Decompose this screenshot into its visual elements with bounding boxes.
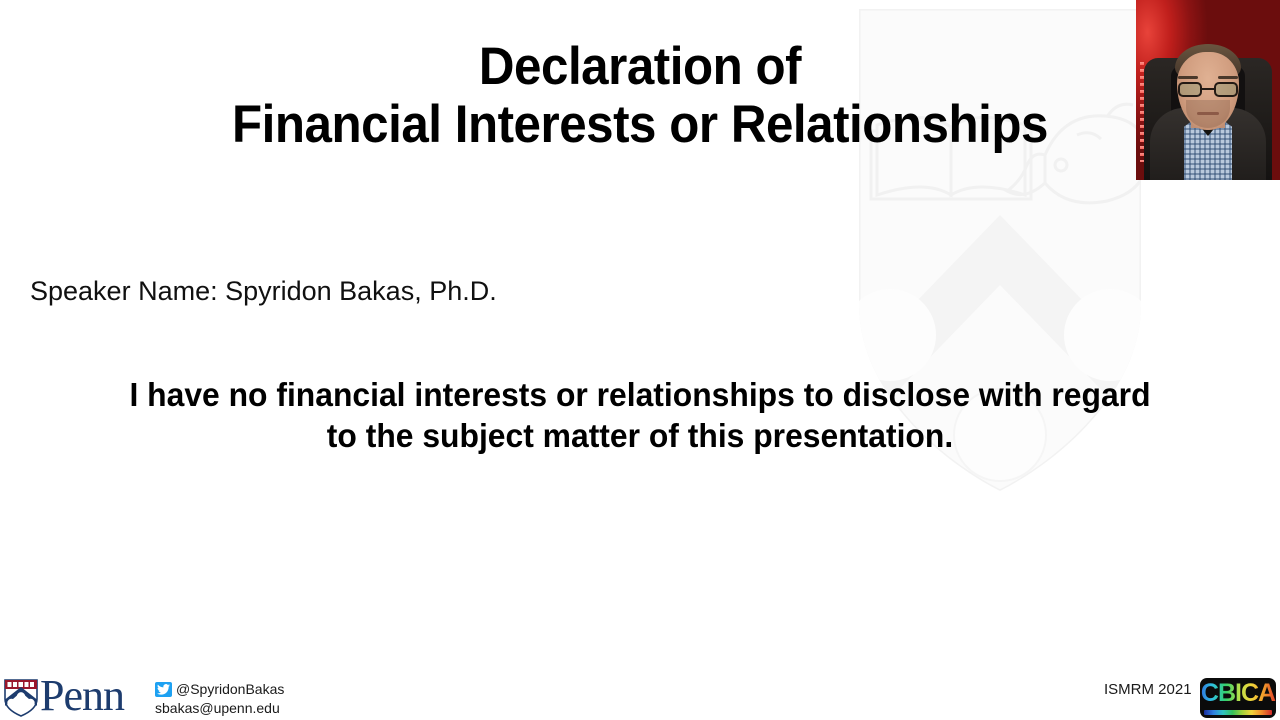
glasses-lens-left	[1178, 82, 1202, 97]
disclosure-line-1: I have no financial interests or relatio…	[47, 374, 1232, 415]
page-title: Declaration of Financial Interests or Re…	[45, 38, 1235, 154]
footer-bar-steel	[385, 661, 444, 672]
webcam-glasses-icon	[1178, 82, 1238, 98]
glasses-bridge	[1202, 88, 1214, 90]
title-line-2: Financial Interests or Relationships	[45, 96, 1235, 154]
disclosure-statement: I have no financial interests or relatio…	[47, 374, 1232, 456]
penn-shield-icon	[4, 679, 38, 717]
disclosure-line-2: to the subject matter of this presentati…	[47, 415, 1232, 456]
webcam-eyebrow-left	[1178, 76, 1198, 79]
slide-canvas: Declaration of Financial Interests or Re…	[0, 0, 1280, 720]
twitter-handle[interactable]: @SpyridonBakas	[176, 680, 284, 698]
cbica-spectrum-bar	[1204, 710, 1272, 715]
cbica-wordmark: CBICA	[1200, 680, 1276, 707]
footer-bar-navy	[452, 661, 1280, 672]
glasses-lens-right	[1214, 82, 1238, 97]
penn-wordmark: Penn	[40, 674, 124, 718]
webcam-eyebrow-right	[1218, 76, 1238, 79]
penn-logo: Penn	[4, 678, 148, 718]
speaker-name-line: Speaker Name: Spyridon Bakas, Ph.D.	[30, 276, 497, 307]
email-address[interactable]: sbakas@upenn.edu	[155, 699, 385, 717]
webcam-mouth	[1197, 112, 1219, 115]
twitter-bird-icon[interactable]	[155, 682, 172, 697]
presenter-webcam-video[interactable]	[1136, 0, 1280, 180]
footer-bar-red	[162, 661, 375, 672]
conference-label: ISMRM 2021	[1104, 681, 1192, 698]
title-line-1: Declaration of	[45, 38, 1235, 96]
contact-block: @SpyridonBakas sbakas@upenn.edu	[155, 680, 385, 717]
cbica-logo: CBICA	[1200, 678, 1276, 718]
